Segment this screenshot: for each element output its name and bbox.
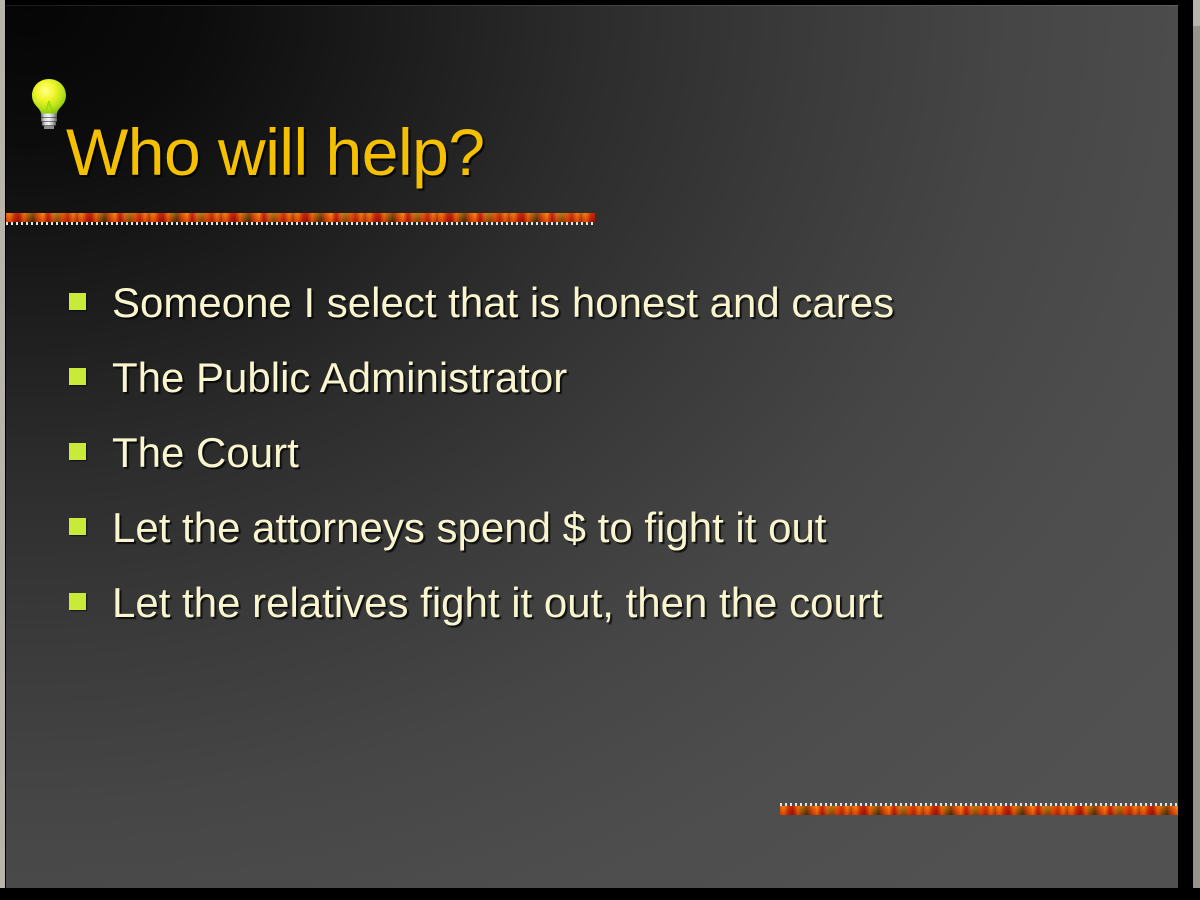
list-item: The Court (63, 417, 1153, 492)
slide-top-highlight (6, 5, 1178, 6)
frame-edge-top (0, 0, 1200, 4)
presentation-slide: Who will help? Someone I select that is … (6, 5, 1178, 888)
list-item: Someone I select that is honest and care… (63, 267, 1153, 342)
decorative-dots-top (6, 222, 595, 225)
decorative-bar-top (6, 213, 595, 222)
frame-edge-right-top (1193, 0, 1200, 28)
frame-edge-right (1193, 26, 1200, 888)
bullet-text: Let the relatives fight it out, then the… (112, 567, 882, 639)
decorative-bar-bottom (780, 806, 1178, 815)
bullet-marker-icon (69, 368, 86, 385)
bullet-text: The Public Administrator (112, 342, 567, 414)
bullet-marker-icon (69, 593, 86, 610)
bullet-marker-icon (69, 293, 86, 310)
bullet-text: Someone I select that is honest and care… (112, 267, 894, 339)
slide-viewer: Who will help? Someone I select that is … (0, 0, 1200, 900)
list-item: Let the attorneys spend $ to fight it ou… (63, 492, 1153, 567)
bullet-text: The Court (112, 417, 299, 489)
list-item: The Public Administrator (63, 342, 1153, 417)
frame-edge-left (0, 0, 5, 888)
light-bulb-icon (28, 77, 70, 129)
bullet-marker-icon (69, 443, 86, 460)
bullet-list: Someone I select that is honest and care… (63, 267, 1153, 642)
slide-title: Who will help? (66, 112, 485, 192)
list-item: Let the relatives fight it out, then the… (63, 567, 1153, 642)
bullet-marker-icon (69, 518, 86, 535)
bullet-text: Let the attorneys spend $ to fight it ou… (112, 492, 826, 564)
